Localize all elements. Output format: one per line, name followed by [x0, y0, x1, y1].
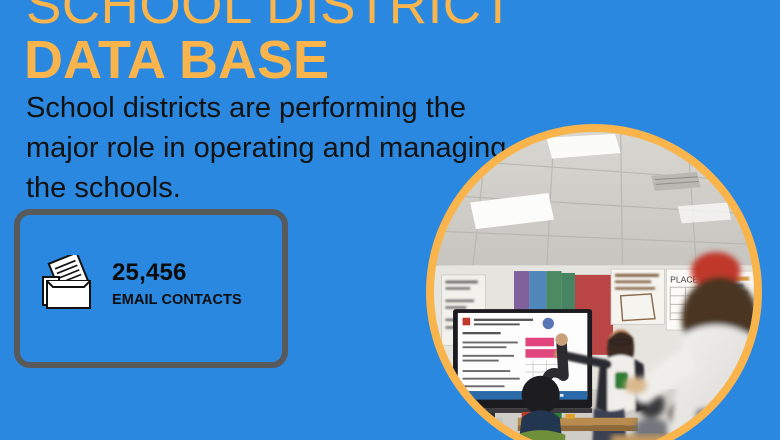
mail-envelope-icon: [38, 255, 100, 313]
headline-line-1: SCHOOL DISTRICT: [26, 0, 514, 34]
stat-number: 25,456: [112, 259, 242, 287]
stat-content: 25,456 EMAIL CONTACTS: [38, 255, 242, 313]
stat-text-group: 25,456 EMAIL CONTACTS: [112, 259, 242, 310]
headline-line-2: DATA BASE: [24, 30, 329, 90]
promo-banner: SCHOOL DISTRICT DATA BASE School distric…: [0, 0, 780, 440]
classroom-photo: PLACE VALUE: [426, 124, 762, 440]
classroom-scene: PLACE VALUE: [434, 132, 754, 440]
email-contacts-stat-card: 25,456 EMAIL CONTACTS: [14, 209, 288, 368]
description-line-1: School districts are performing the: [26, 88, 516, 128]
stat-label: EMAIL CONTACTS: [112, 290, 242, 310]
